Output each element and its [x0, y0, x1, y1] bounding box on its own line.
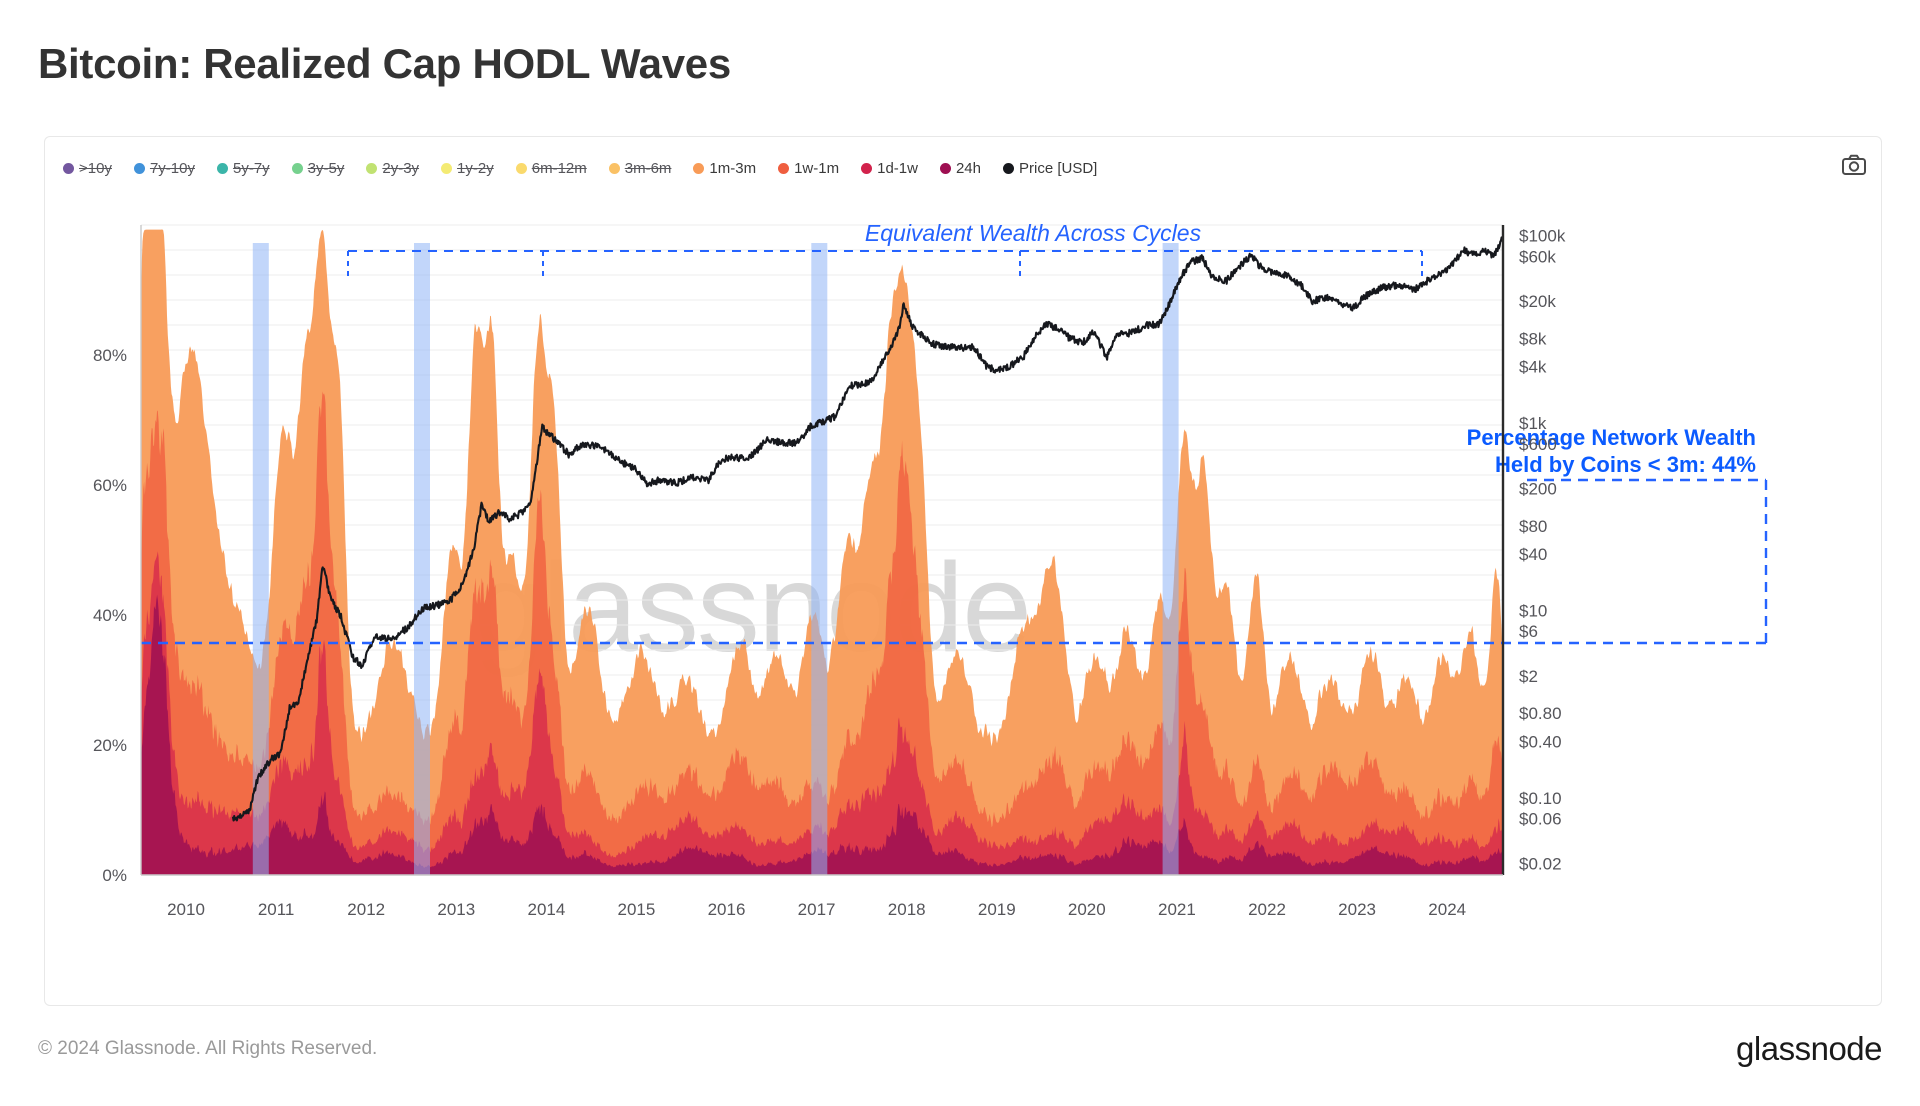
legend-swatch-icon	[861, 163, 872, 174]
x-tick-label: 2013	[437, 900, 475, 919]
x-tick-label: 2015	[617, 900, 655, 919]
legend-swatch-icon	[609, 163, 620, 174]
left-tick-label: 0%	[102, 866, 127, 885]
right-tick-label: $60k	[1519, 248, 1556, 267]
legend-item-label: 6m-12m	[532, 161, 587, 176]
right-tick-label: $0.40	[1519, 732, 1562, 751]
legend-swatch-icon	[516, 163, 527, 174]
legend-item-label: 1d-1w	[877, 161, 918, 176]
legend-item-label: 1y-2y	[457, 161, 494, 176]
legend-swatch-icon	[292, 163, 303, 174]
right-tick-label: $80	[1519, 517, 1547, 536]
highlight-band-0	[253, 243, 269, 875]
legend-item-1w-1m[interactable]: 1w-1m	[778, 161, 839, 176]
legend-item-1y-2y[interactable]: 1y-2y	[441, 161, 494, 176]
legend-item-label: 3y-5y	[308, 161, 345, 176]
right-tick-label: $0.06	[1519, 810, 1562, 829]
x-tick-label: 2023	[1338, 900, 1376, 919]
hodl-waves-chart: glassnode	[45, 191, 1883, 1007]
x-tick-label: 2017	[798, 900, 836, 919]
legend-item-3y-5y[interactable]: 3y-5y	[292, 161, 345, 176]
right-tick-label: $20k	[1519, 292, 1556, 311]
x-tick-label: 2022	[1248, 900, 1286, 919]
x-tick-label: 2018	[888, 900, 926, 919]
legend-item-6m-12m[interactable]: 6m-12m	[516, 161, 587, 176]
highlight-band-1	[414, 243, 430, 875]
legend-swatch-icon	[217, 163, 228, 174]
x-tick-label: 2024	[1428, 900, 1466, 919]
x-tick-label: 2019	[978, 900, 1016, 919]
network-wealth-label-line1: Percentage Network Wealth	[1467, 425, 1756, 450]
chart-card: >10y7y-10y5y-7y3y-5y2y-3y1y-2y6m-12m3m-6…	[44, 136, 1882, 1006]
legend-item-price-usd-[interactable]: Price [USD]	[1003, 161, 1097, 176]
highlight-band-3	[1163, 243, 1179, 875]
equivalent-wealth-label: Equivalent Wealth Across Cycles	[865, 220, 1202, 246]
legend-item-24h[interactable]: 24h	[940, 161, 981, 176]
legend-item-label: 1m-3m	[709, 161, 756, 176]
footer-logo: glassnode	[1736, 1030, 1882, 1068]
legend-swatch-icon	[1003, 163, 1014, 174]
right-axis-ticks: $100k$60k$20k$8k$4k$1k$600$200$80$40$10$…	[1519, 227, 1566, 874]
x-tick-label: 2010	[167, 900, 205, 919]
highlight-band-2	[811, 243, 827, 875]
legend-swatch-icon	[441, 163, 452, 174]
right-tick-label: $200	[1519, 480, 1557, 499]
legend-swatch-icon	[778, 163, 789, 174]
left-tick-label: 60%	[93, 476, 127, 495]
legend-item-label: 3m-6m	[625, 161, 672, 176]
footer-copyright: © 2024 Glassnode. All Rights Reserved.	[38, 1038, 377, 1060]
legend-item-7y-10y[interactable]: 7y-10y	[134, 161, 195, 176]
right-tick-label: $0.10	[1519, 789, 1562, 808]
legend-item-5y-7y[interactable]: 5y-7y	[217, 161, 270, 176]
right-tick-label: $600	[1519, 435, 1557, 454]
legend-swatch-icon	[366, 163, 377, 174]
x-tick-label: 2021	[1158, 900, 1196, 919]
legend-item-label: 5y-7y	[233, 161, 270, 176]
legend-swatch-icon	[134, 163, 145, 174]
right-tick-label: $0.02	[1519, 854, 1562, 873]
x-tick-label: 2020	[1068, 900, 1106, 919]
left-tick-label: 40%	[93, 606, 127, 625]
x-axis-ticks: 2010201120122013201420152016201720182019…	[167, 900, 1466, 919]
page-title: Bitcoin: Realized Cap HODL Waves	[38, 40, 731, 88]
right-tick-label: $8k	[1519, 329, 1547, 348]
legend-swatch-icon	[63, 163, 74, 174]
x-tick-label: 2014	[527, 900, 565, 919]
legend-swatch-icon	[940, 163, 951, 174]
x-tick-label: 2011	[258, 900, 295, 919]
legend-item-1d-1w[interactable]: 1d-1w	[861, 161, 918, 176]
x-tick-label: 2012	[347, 900, 385, 919]
plot-area: glassnode	[45, 191, 1883, 1007]
legend-item-label: 24h	[956, 161, 981, 176]
legend-item-label: Price [USD]	[1019, 161, 1097, 176]
legend-item-label: 2y-3y	[382, 161, 419, 176]
legend-item-3m-6m[interactable]: 3m-6m	[609, 161, 672, 176]
chart-page: Bitcoin: Realized Cap HODL Waves >10y7y-…	[0, 0, 1920, 1106]
legend-item--10y[interactable]: >10y	[63, 161, 112, 176]
legend-item-label: >10y	[79, 161, 112, 176]
right-tick-label: $4k	[1519, 358, 1547, 377]
right-tick-label: $2	[1519, 667, 1538, 686]
legend-item-1m-3m[interactable]: 1m-3m	[693, 161, 756, 176]
network-wealth-label-line2: Held by Coins < 3m: 44%	[1495, 452, 1756, 477]
right-tick-label: $40	[1519, 545, 1547, 564]
left-axis-ticks: 0%20%40%60%80%	[93, 346, 127, 885]
chart-legend: >10y7y-10y5y-7y3y-5y2y-3y1y-2y6m-12m3m-6…	[63, 157, 1097, 179]
right-tick-label: $6	[1519, 622, 1538, 641]
left-tick-label: 80%	[93, 346, 127, 365]
right-tick-label: $100k	[1519, 227, 1566, 246]
right-tick-label: $0.80	[1519, 704, 1562, 723]
legend-item-label: 7y-10y	[150, 161, 195, 176]
right-tick-label: $1k	[1519, 414, 1547, 433]
legend-swatch-icon	[693, 163, 704, 174]
right-tick-label: $10	[1519, 601, 1547, 620]
left-tick-label: 20%	[93, 736, 127, 755]
legend-item-2y-3y[interactable]: 2y-3y	[366, 161, 419, 176]
x-tick-label: 2016	[708, 900, 746, 919]
legend-item-label: 1w-1m	[794, 161, 839, 176]
camera-icon[interactable]	[1841, 153, 1867, 177]
camera-icon-svg	[1841, 153, 1867, 177]
